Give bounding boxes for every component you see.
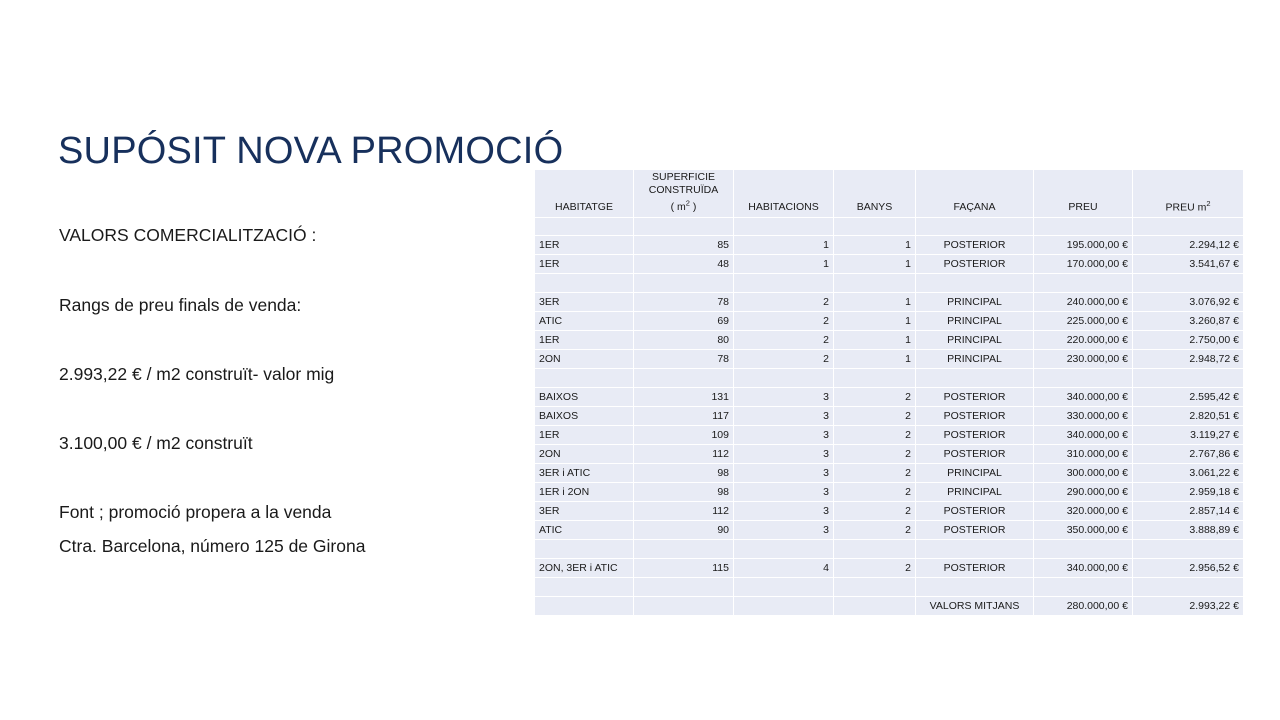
body-line-valor-mig: 2.993,22 € / m2 construït- valor mig <box>59 363 519 385</box>
table-spacer-row <box>535 578 1244 597</box>
cell-habitacions <box>734 540 834 559</box>
cell-habitacions <box>734 578 834 597</box>
table-body: 1ER8511POSTERIOR195.000,00 €2.294,12 €1E… <box>535 236 1244 616</box>
cell-preu_m2 <box>1133 540 1244 559</box>
cell-preu_m2 <box>1133 578 1244 597</box>
cell-preu: 340.000,00 € <box>1034 559 1133 578</box>
cell-habitatge: 2ON <box>535 350 634 369</box>
cell-habitacions <box>734 274 834 293</box>
cell-banys <box>834 369 916 388</box>
cell-preu_m2: 2.948,72 € <box>1133 350 1244 369</box>
cell-superficie: 80 <box>634 331 734 350</box>
cell-habitatge: 3ER <box>535 293 634 312</box>
cell-superficie: 112 <box>634 502 734 521</box>
cell-habitatge <box>535 369 634 388</box>
cell-habitacions: 2 <box>734 350 834 369</box>
cell-facana: POSTERIOR <box>916 502 1034 521</box>
header-pad-cell <box>1133 218 1244 236</box>
cell-banys: 2 <box>834 407 916 426</box>
cell-facana: POSTERIOR <box>916 236 1034 255</box>
cell-facana: POSTERIOR <box>916 521 1034 540</box>
cell-facana <box>916 274 1034 293</box>
cell-banys: 2 <box>834 483 916 502</box>
column-header-facana: FAÇANA <box>916 170 1034 218</box>
cell-habitatge: 1ER <box>535 236 634 255</box>
cell-habitacions: 3 <box>734 521 834 540</box>
table-row: 1ER8021PRINCIPAL220.000,00 €2.750,00 € <box>535 331 1244 350</box>
cell-superficie <box>634 597 734 616</box>
cell-habitatge: 3ER <box>535 502 634 521</box>
cell-habitatge <box>535 540 634 559</box>
header-pad-cell <box>535 218 634 236</box>
column-header-superficie-line2: CONSTRUÏDA <box>649 184 718 196</box>
column-header-preu-m2: PREU m2 <box>1133 170 1244 218</box>
cell-superficie: 90 <box>634 521 734 540</box>
cell-banys: 2 <box>834 521 916 540</box>
table-spacer-row <box>535 274 1244 293</box>
cell-habitacions <box>734 597 834 616</box>
cell-preu_m2: 3.119,27 € <box>1133 426 1244 445</box>
cell-preu: 330.000,00 € <box>1034 407 1133 426</box>
cell-superficie: 78 <box>634 350 734 369</box>
cell-facana: POSTERIOR <box>916 426 1034 445</box>
cell-preu_m2: 2.294,12 € <box>1133 236 1244 255</box>
cell-preu_m2: 2.857,14 € <box>1133 502 1244 521</box>
cell-habitacions: 1 <box>734 255 834 274</box>
cell-banys: 1 <box>834 255 916 274</box>
header-pad-cell <box>1034 218 1133 236</box>
table-header: HABITATGE SUPERFICIE CONSTRUÏDA ( m2 ) H… <box>535 170 1244 236</box>
cell-preu: 195.000,00 € <box>1034 236 1133 255</box>
cell-preu <box>1034 274 1133 293</box>
header-pad-cell <box>734 218 834 236</box>
cell-preu_m2: 3.260,87 € <box>1133 312 1244 331</box>
cell-superficie: 78 <box>634 293 734 312</box>
cell-banys: 2 <box>834 445 916 464</box>
column-header-superficie-line3: ( m2 ) <box>671 201 697 213</box>
table-row: ATIC6921PRINCIPAL225.000,00 €3.260,87 € <box>535 312 1244 331</box>
header-pad-cell <box>834 218 916 236</box>
cell-superficie <box>634 369 734 388</box>
cell-facana: PRINCIPAL <box>916 293 1034 312</box>
cell-superficie: 131 <box>634 388 734 407</box>
cell-preu: 290.000,00 € <box>1034 483 1133 502</box>
cell-facana: POSTERIOR <box>916 255 1034 274</box>
cell-superficie: 98 <box>634 483 734 502</box>
cell-habitatge <box>535 597 634 616</box>
cell-superficie: 112 <box>634 445 734 464</box>
page-title: SUPÓSIT NOVA PROMOCIÓ <box>58 128 563 174</box>
cell-habitatge: ATIC <box>535 521 634 540</box>
cell-preu_m2: 2.959,18 € <box>1133 483 1244 502</box>
cell-habitacions: 2 <box>734 293 834 312</box>
cell-preu: 225.000,00 € <box>1034 312 1133 331</box>
cell-banys: 1 <box>834 350 916 369</box>
cell-banys <box>834 274 916 293</box>
cell-preu_m2: 2.820,51 € <box>1133 407 1244 426</box>
cell-preu: 350.000,00 € <box>1034 521 1133 540</box>
cell-facana: POSTERIOR <box>916 388 1034 407</box>
cell-preu_m2 <box>1133 274 1244 293</box>
body-line-preu-construit: 3.100,00 € / m2 construït <box>59 432 519 454</box>
cell-superficie <box>634 578 734 597</box>
cell-banys: 1 <box>834 236 916 255</box>
cell-facana <box>916 578 1034 597</box>
cell-preu: 310.000,00 € <box>1034 445 1133 464</box>
cell-preu_m2: 2.767,86 € <box>1133 445 1244 464</box>
cell-banys: 1 <box>834 312 916 331</box>
cell-banys: 1 <box>834 293 916 312</box>
body-line-font: Font ; promoció propera a la venda <box>59 501 519 523</box>
cell-preu: 280.000,00 € <box>1034 597 1133 616</box>
table-row: BAIXOS13132POSTERIOR340.000,00 €2.595,42… <box>535 388 1244 407</box>
table-row: 1ER10932POSTERIOR340.000,00 €3.119,27 € <box>535 426 1244 445</box>
cell-superficie: 109 <box>634 426 734 445</box>
table-row: BAIXOS11732POSTERIOR330.000,00 €2.820,51… <box>535 407 1244 426</box>
table-header-pad-row <box>535 218 1244 236</box>
header-pad-cell <box>634 218 734 236</box>
cell-facana: PRINCIPAL <box>916 331 1034 350</box>
table-row: 3ER11232POSTERIOR320.000,00 €2.857,14 € <box>535 502 1244 521</box>
cell-preu_m2: 2.956,52 € <box>1133 559 1244 578</box>
cell-banys: 2 <box>834 464 916 483</box>
cell-preu <box>1034 369 1133 388</box>
table-row: 3ER7821PRINCIPAL240.000,00 €3.076,92 € <box>535 293 1244 312</box>
cell-habitacions: 1 <box>734 236 834 255</box>
price-table: HABITATGE SUPERFICIE CONSTRUÏDA ( m2 ) H… <box>534 169 1244 616</box>
cell-preu_m2 <box>1133 369 1244 388</box>
table-row: 2ON7821PRINCIPAL230.000,00 €2.948,72 € <box>535 350 1244 369</box>
cell-habitacions: 3 <box>734 407 834 426</box>
cell-habitacions: 3 <box>734 502 834 521</box>
cell-preu: 240.000,00 € <box>1034 293 1133 312</box>
cell-habitatge <box>535 578 634 597</box>
cell-habitacions: 3 <box>734 445 834 464</box>
table-row: 3ER i ATIC9832PRINCIPAL300.000,00 €3.061… <box>535 464 1244 483</box>
cell-habitatge: 1ER <box>535 255 634 274</box>
cell-superficie: 69 <box>634 312 734 331</box>
cell-facana: PRINCIPAL <box>916 464 1034 483</box>
cell-facana: POSTERIOR <box>916 559 1034 578</box>
cell-banys <box>834 597 916 616</box>
header-pad-cell <box>916 218 1034 236</box>
cell-habitatge: 2ON, 3ER i ATIC <box>535 559 634 578</box>
table-row: 1ER4811POSTERIOR170.000,00 €3.541,67 € <box>535 255 1244 274</box>
cell-preu_m2: 2.595,42 € <box>1133 388 1244 407</box>
cell-habitacions: 3 <box>734 483 834 502</box>
body-line-valors-comercialitzacio: VALORS COMERCIALITZACIÓ : <box>59 224 519 246</box>
cell-facana <box>916 369 1034 388</box>
cell-preu: 170.000,00 € <box>1034 255 1133 274</box>
cell-banys: 2 <box>834 502 916 521</box>
cell-habitacions <box>734 369 834 388</box>
body-text-block: VALORS COMERCIALITZACIÓ : Rangs de preu … <box>59 224 519 557</box>
column-header-superficie-line1: SUPERFICIE <box>652 171 715 183</box>
column-header-banys: BANYS <box>834 170 916 218</box>
cell-preu <box>1034 540 1133 559</box>
cell-superficie <box>634 274 734 293</box>
cell-superficie: 48 <box>634 255 734 274</box>
cell-habitacions: 2 <box>734 312 834 331</box>
cell-habitacions: 3 <box>734 464 834 483</box>
table-header-row: HABITATGE SUPERFICIE CONSTRUÏDA ( m2 ) H… <box>535 170 1244 218</box>
cell-facana: POSTERIOR <box>916 407 1034 426</box>
cell-preu_m2: 3.076,92 € <box>1133 293 1244 312</box>
cell-preu_m2: 2.750,00 € <box>1133 331 1244 350</box>
cell-preu_m2: 3.061,22 € <box>1133 464 1244 483</box>
cell-habitatge: 2ON <box>535 445 634 464</box>
cell-habitatge: BAIXOS <box>535 407 634 426</box>
cell-habitatge: 1ER <box>535 426 634 445</box>
cell-preu: 300.000,00 € <box>1034 464 1133 483</box>
table-spacer-row <box>535 369 1244 388</box>
table-row: 1ER i 2ON9832PRINCIPAL290.000,00 €2.959,… <box>535 483 1244 502</box>
cell-superficie: 115 <box>634 559 734 578</box>
cell-facana: PRINCIPAL <box>916 312 1034 331</box>
column-header-habitatge: HABITATGE <box>535 170 634 218</box>
cell-preu: 340.000,00 € <box>1034 426 1133 445</box>
table-row: 1ER8511POSTERIOR195.000,00 €2.294,12 € <box>535 236 1244 255</box>
cell-preu_m2: 3.541,67 € <box>1133 255 1244 274</box>
cell-superficie <box>634 540 734 559</box>
table-row: 2ON11232POSTERIOR310.000,00 €2.767,86 € <box>535 445 1244 464</box>
cell-habitatge: 3ER i ATIC <box>535 464 634 483</box>
table-row: ATIC9032POSTERIOR350.000,00 €3.888,89 € <box>535 521 1244 540</box>
cell-preu: 230.000,00 € <box>1034 350 1133 369</box>
column-header-preu: PREU <box>1034 170 1133 218</box>
cell-banys: 1 <box>834 331 916 350</box>
cell-banys: 2 <box>834 559 916 578</box>
cell-preu: 340.000,00 € <box>1034 388 1133 407</box>
cell-facana: PRINCIPAL <box>916 483 1034 502</box>
cell-habitatge <box>535 274 634 293</box>
cell-preu_m2: 2.993,22 € <box>1133 597 1244 616</box>
cell-habitacions: 2 <box>734 331 834 350</box>
cell-habitacions: 3 <box>734 426 834 445</box>
column-header-habitacions: HABITACIONS <box>734 170 834 218</box>
table-summary-row: VALORS MITJANS280.000,00 €2.993,22 € <box>535 597 1244 616</box>
cell-preu: 320.000,00 € <box>1034 502 1133 521</box>
cell-preu <box>1034 578 1133 597</box>
cell-facana: POSTERIOR <box>916 445 1034 464</box>
cell-banys <box>834 540 916 559</box>
cell-banys <box>834 578 916 597</box>
cell-habitatge: 1ER <box>535 331 634 350</box>
cell-habitacions: 3 <box>734 388 834 407</box>
cell-facana: VALORS MITJANS <box>916 597 1034 616</box>
cell-habitatge: ATIC <box>535 312 634 331</box>
cell-banys: 2 <box>834 388 916 407</box>
cell-facana: PRINCIPAL <box>916 350 1034 369</box>
table-spacer-row <box>535 540 1244 559</box>
cell-preu: 220.000,00 € <box>1034 331 1133 350</box>
column-header-superficie-construida: SUPERFICIE CONSTRUÏDA ( m2 ) <box>634 170 734 218</box>
cell-habitacions: 4 <box>734 559 834 578</box>
table-row: 2ON, 3ER i ATIC11542POSTERIOR340.000,00 … <box>535 559 1244 578</box>
cell-banys: 2 <box>834 426 916 445</box>
cell-habitatge: 1ER i 2ON <box>535 483 634 502</box>
cell-superficie: 117 <box>634 407 734 426</box>
body-line-adreca: Ctra. Barcelona, número 125 de Girona <box>59 535 519 557</box>
cell-facana <box>916 540 1034 559</box>
cell-preu_m2: 3.888,89 € <box>1133 521 1244 540</box>
body-line-rangs-preu: Rangs de preu finals de venda: <box>59 294 519 316</box>
cell-habitatge: BAIXOS <box>535 388 634 407</box>
cell-superficie: 98 <box>634 464 734 483</box>
cell-superficie: 85 <box>634 236 734 255</box>
